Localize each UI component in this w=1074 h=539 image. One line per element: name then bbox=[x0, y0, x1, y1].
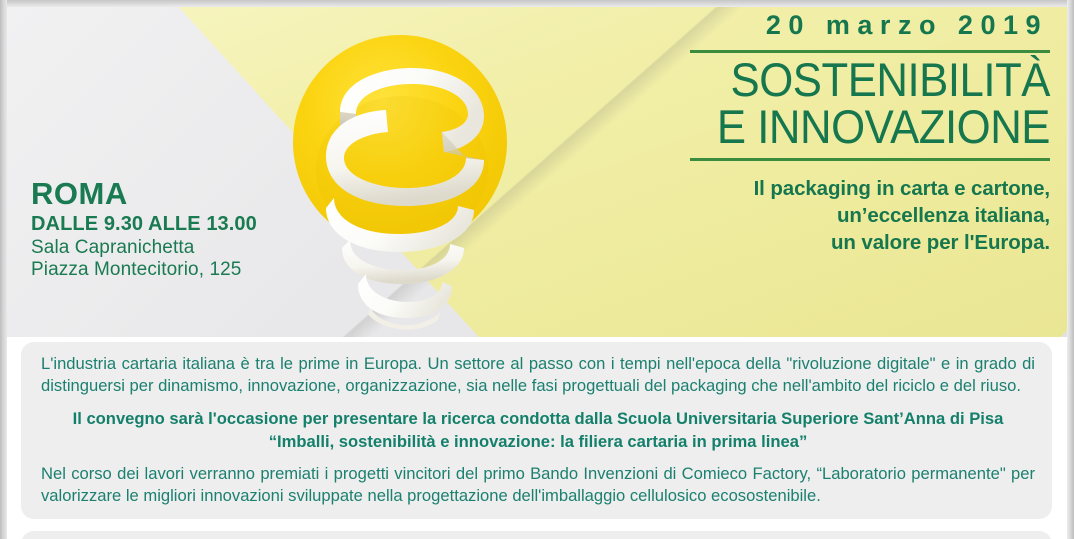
headline-block: 20 marzo 2019 SOSTENIBILITÀ E INNOVAZION… bbox=[690, 10, 1050, 256]
venue-address: Piazza Montecitorio, 125 bbox=[31, 260, 257, 279]
poster-page: ROMA DALLE 9.30 ALLE 13.00 Sala Capranic… bbox=[0, 0, 1074, 539]
event-title-line-1: SOSTENIBILITÀ bbox=[715, 57, 1050, 104]
body-highlight-line-2: “Imballi, sostenibilità e innovazione: l… bbox=[41, 431, 1035, 453]
body-intro-paragraph: L'industria cartaria italiana è tra le p… bbox=[41, 353, 1035, 397]
page-edge-right bbox=[1067, 0, 1074, 539]
headline-rule-bottom bbox=[690, 158, 1050, 161]
body-highlight-line-1: Il convegno sarà l'occasione per present… bbox=[41, 408, 1035, 430]
event-subtitle-line-1: Il packaging in carta e cartone, bbox=[690, 175, 1050, 202]
body-outro-paragraph: Nel corso dei lavori verranno premiati i… bbox=[41, 463, 1035, 507]
next-section-card bbox=[21, 531, 1052, 539]
venue-city: ROMA bbox=[31, 178, 257, 209]
venue-hours: DALLE 9.30 ALLE 13.00 bbox=[31, 214, 257, 234]
venue-room: Sala Capranichetta bbox=[31, 238, 257, 257]
venue-block: ROMA DALLE 9.30 ALLE 13.00 Sala Capranic… bbox=[31, 178, 257, 282]
event-date: 20 marzo 2019 bbox=[690, 10, 1050, 41]
page-edge-top bbox=[0, 0, 1074, 7]
page-edge-left bbox=[0, 0, 7, 539]
lightbulb-illustration bbox=[252, 20, 534, 330]
event-subtitle-line-2: un’eccellenza italiana, bbox=[690, 202, 1050, 229]
event-subtitle-line-3: un valore per l'Europa. bbox=[690, 229, 1050, 256]
body-copy-card: L'industria cartaria italiana è tra le p… bbox=[21, 342, 1052, 519]
event-title-line-2: E INNOVAZIONE bbox=[715, 104, 1050, 151]
